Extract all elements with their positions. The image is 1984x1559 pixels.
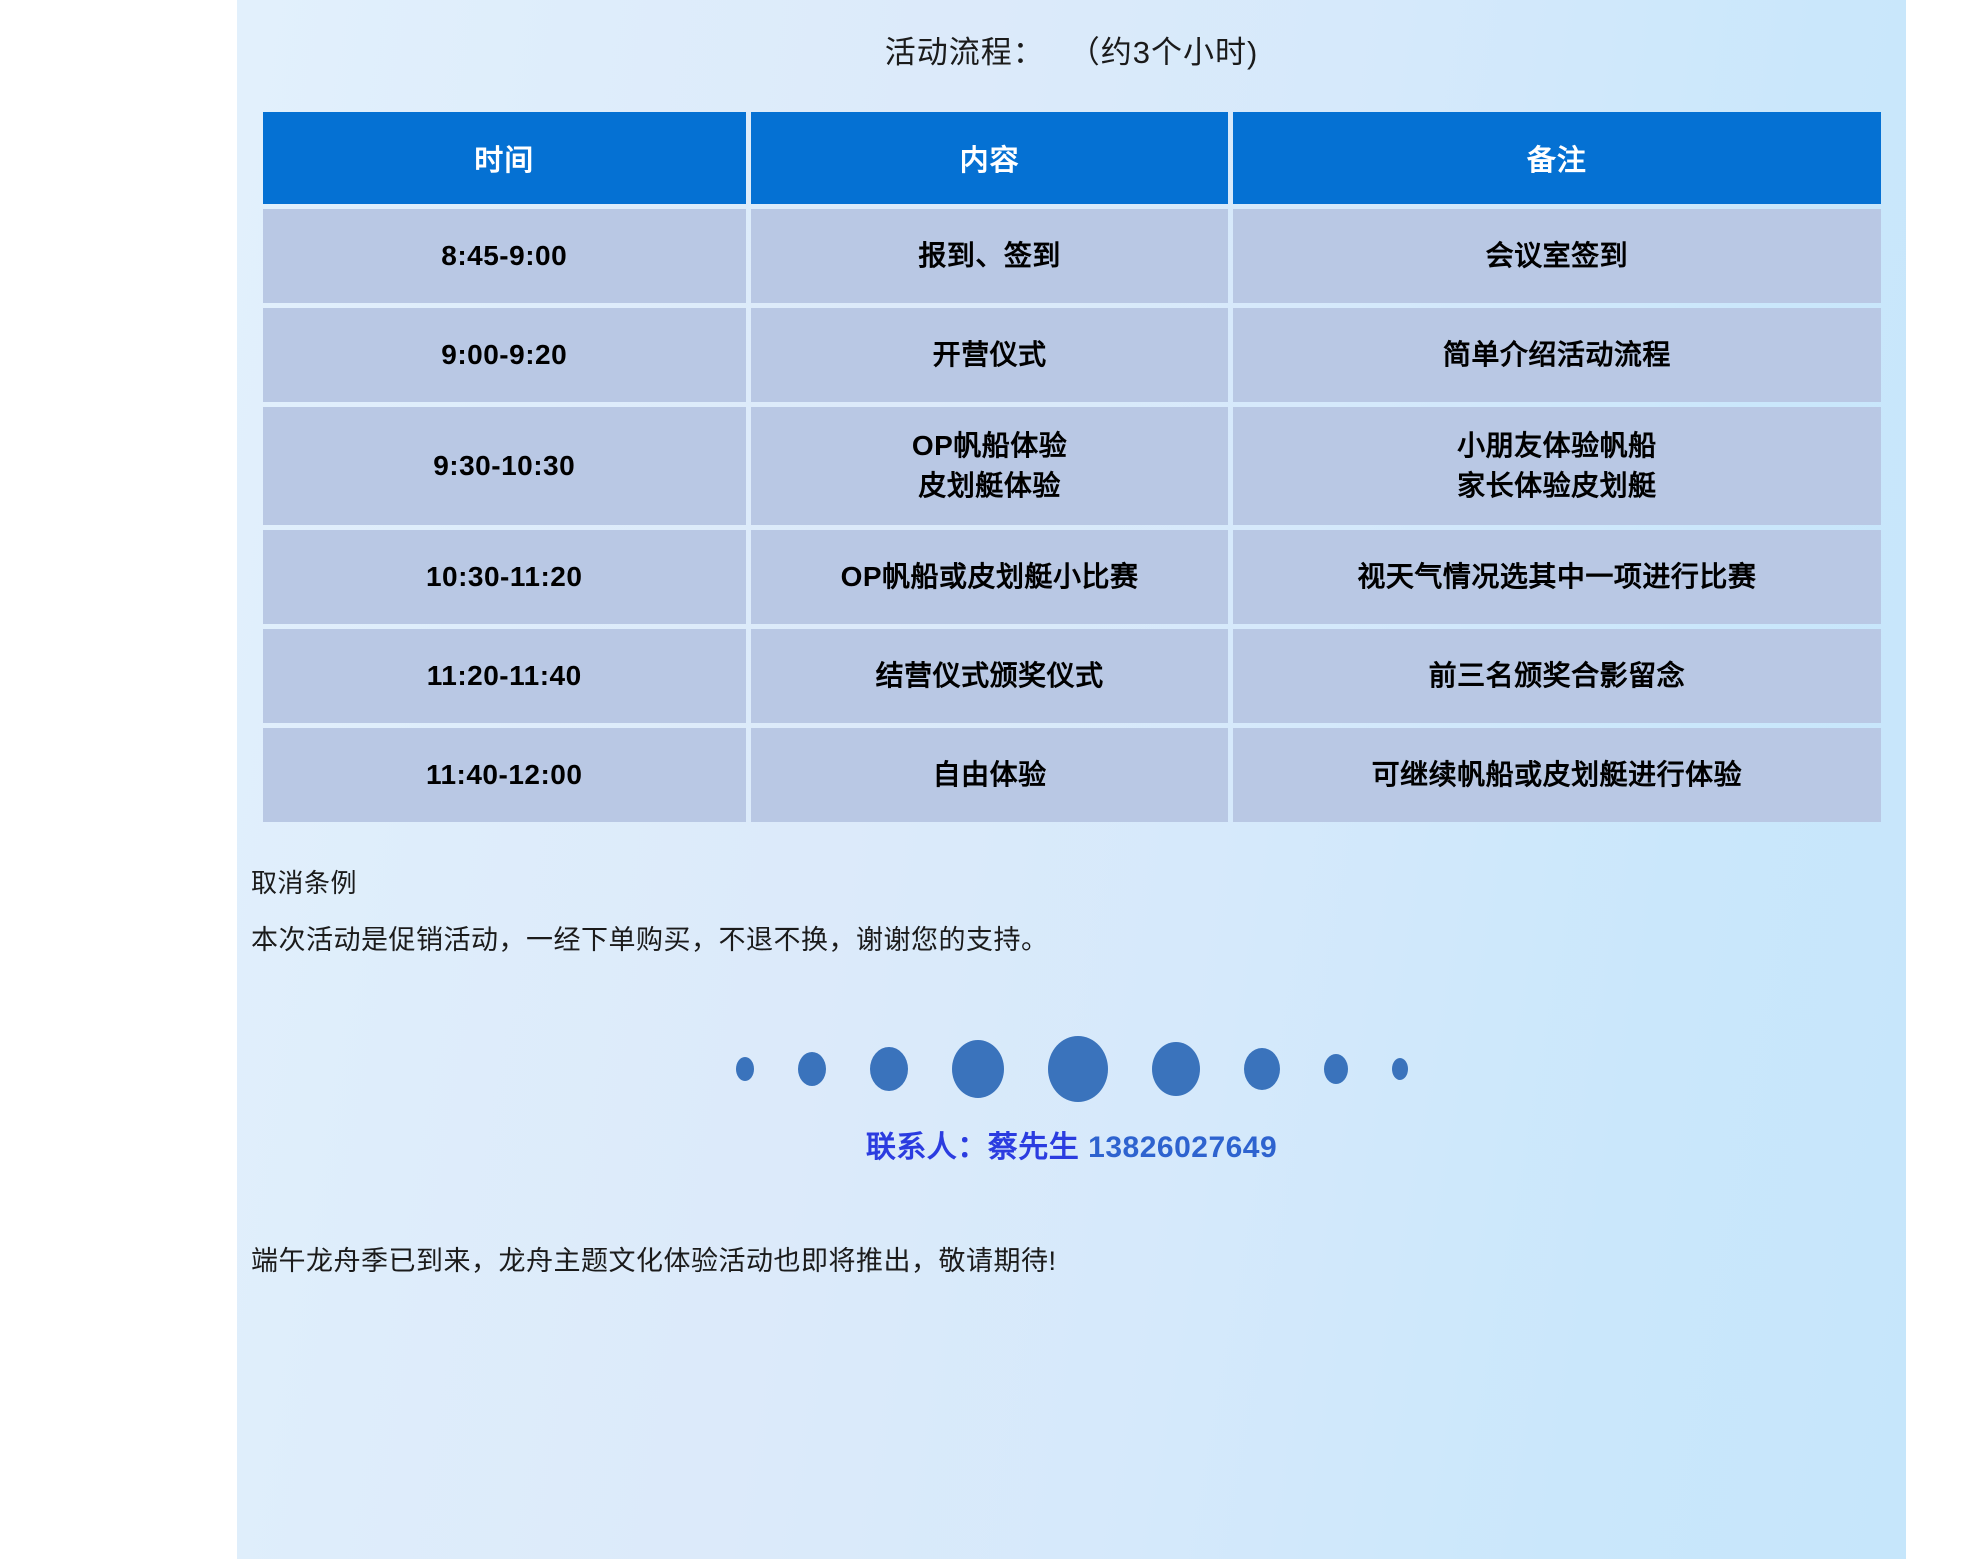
page-title-label: 活动流程： — [885, 35, 1045, 70]
cell-time: 11:20-11:40 — [263, 629, 746, 723]
divider-dot — [1048, 1036, 1108, 1102]
divider-dot — [1324, 1054, 1348, 1084]
divider-dot — [1244, 1048, 1280, 1090]
schedule-table: 时间 内容 备注 8:45-9:00 报到、签到 会议室签到 9:00-9:20… — [258, 107, 1886, 827]
content-panel: 活动流程：（约3个小时) 时间 内容 备注 8:45-9:00 报到、签到 会议… — [237, 0, 1906, 1559]
dot-divider — [237, 1034, 1906, 1104]
cell-line: 自由体验 — [759, 755, 1220, 796]
cell-line: 简单介绍活动流程 — [1241, 335, 1872, 376]
divider-dot — [1392, 1058, 1408, 1080]
schedule-table-head: 时间 内容 备注 — [263, 112, 1881, 204]
table-row: 8:45-9:00 报到、签到 会议室签到 — [263, 209, 1881, 303]
column-header-content: 内容 — [751, 112, 1228, 204]
column-header-remark: 备注 — [1233, 112, 1880, 204]
divider-dot — [870, 1047, 908, 1091]
cell-line: 前三名颁奖合影留念 — [1241, 656, 1872, 697]
column-header-time: 时间 — [263, 112, 746, 204]
cell-line: 结营仪式颁奖仪式 — [759, 656, 1220, 697]
cell-content: 报到、签到 — [751, 209, 1228, 303]
schedule-table-body: 8:45-9:00 报到、签到 会议室签到 9:00-9:20 开营仪式 简单介… — [263, 209, 1881, 822]
table-header-row: 时间 内容 备注 — [263, 112, 1881, 204]
cell-content: OP帆船或皮划艇小比赛 — [751, 530, 1228, 624]
cell-remark: 前三名颁奖合影留念 — [1233, 629, 1880, 723]
footer-note: 端午龙舟季已到来，龙舟主题文化体验活动也即将推出，敬请期待! — [237, 1166, 1906, 1283]
contact-label: 联系人： — [866, 1131, 988, 1164]
table-row: 11:20-11:40 结营仪式颁奖仪式 前三名颁奖合影留念 — [263, 629, 1881, 723]
cell-content: 结营仪式颁奖仪式 — [751, 629, 1228, 723]
divider-dot — [952, 1040, 1004, 1098]
cell-time: 8:45-9:00 — [263, 209, 746, 303]
divider-dot — [1152, 1042, 1200, 1096]
cell-time: 9:00-9:20 — [263, 308, 746, 402]
cell-line: 会议室签到 — [1241, 236, 1872, 277]
cell-time: 11:40-12:00 — [263, 728, 746, 822]
contact-phone[interactable]: 13826027649 — [1079, 1131, 1277, 1164]
cell-content: OP帆船体验 皮划艇体验 — [751, 407, 1228, 525]
cell-remark: 可继续帆船或皮划艇进行体验 — [1233, 728, 1880, 822]
table-row: 9:00-9:20 开营仪式 简单介绍活动流程 — [263, 308, 1881, 402]
cell-line: 家长体验皮划艇 — [1241, 466, 1872, 507]
cell-time: 10:30-11:20 — [263, 530, 746, 624]
cell-time: 9:30-10:30 — [263, 407, 746, 525]
policy-heading: 取消条例 — [251, 863, 1906, 905]
cancellation-policy: 取消条例 本次活动是促销活动，一经下单购买，不退不换，谢谢您的支持。 — [237, 827, 1906, 962]
cell-remark: 会议室签到 — [1233, 209, 1880, 303]
divider-dot — [736, 1057, 754, 1081]
divider-dot — [798, 1052, 826, 1086]
cell-line: 可继续帆船或皮划艇进行体验 — [1241, 755, 1872, 796]
cell-line: 开营仪式 — [759, 335, 1220, 376]
page-title: 活动流程：（约3个小时) — [237, 0, 1906, 71]
cell-line: 报到、签到 — [759, 236, 1220, 277]
cell-remark: 小朋友体验帆船 家长体验皮划艇 — [1233, 407, 1880, 525]
policy-body: 本次活动是促销活动，一经下单购买，不退不换，谢谢您的支持。 — [251, 919, 1906, 962]
table-row: 9:30-10:30 OP帆船体验 皮划艇体验 小朋友体验帆船 家长体验皮划艇 — [263, 407, 1881, 525]
table-row: 10:30-11:20 OP帆船或皮划艇小比赛 视天气情况选其中一项进行比赛 — [263, 530, 1881, 624]
cell-content: 开营仪式 — [751, 308, 1228, 402]
cell-content: 自由体验 — [751, 728, 1228, 822]
cell-line: OP帆船体验 — [759, 426, 1220, 467]
table-row: 11:40-12:00 自由体验 可继续帆船或皮划艇进行体验 — [263, 728, 1881, 822]
contact-name: 蔡先生 — [988, 1131, 1080, 1164]
contact-line: 联系人：蔡先生 13826027649 — [237, 1122, 1906, 1166]
cell-line: 皮划艇体验 — [759, 466, 1220, 507]
cell-line: 小朋友体验帆船 — [1241, 426, 1872, 467]
cell-remark: 简单介绍活动流程 — [1233, 308, 1880, 402]
cell-line: OP帆船或皮划艇小比赛 — [759, 557, 1220, 598]
cell-remark: 视天气情况选其中一项进行比赛 — [1233, 530, 1880, 624]
page-title-duration: （约3个小时) — [1069, 35, 1259, 70]
cell-line: 视天气情况选其中一项进行比赛 — [1241, 557, 1872, 598]
